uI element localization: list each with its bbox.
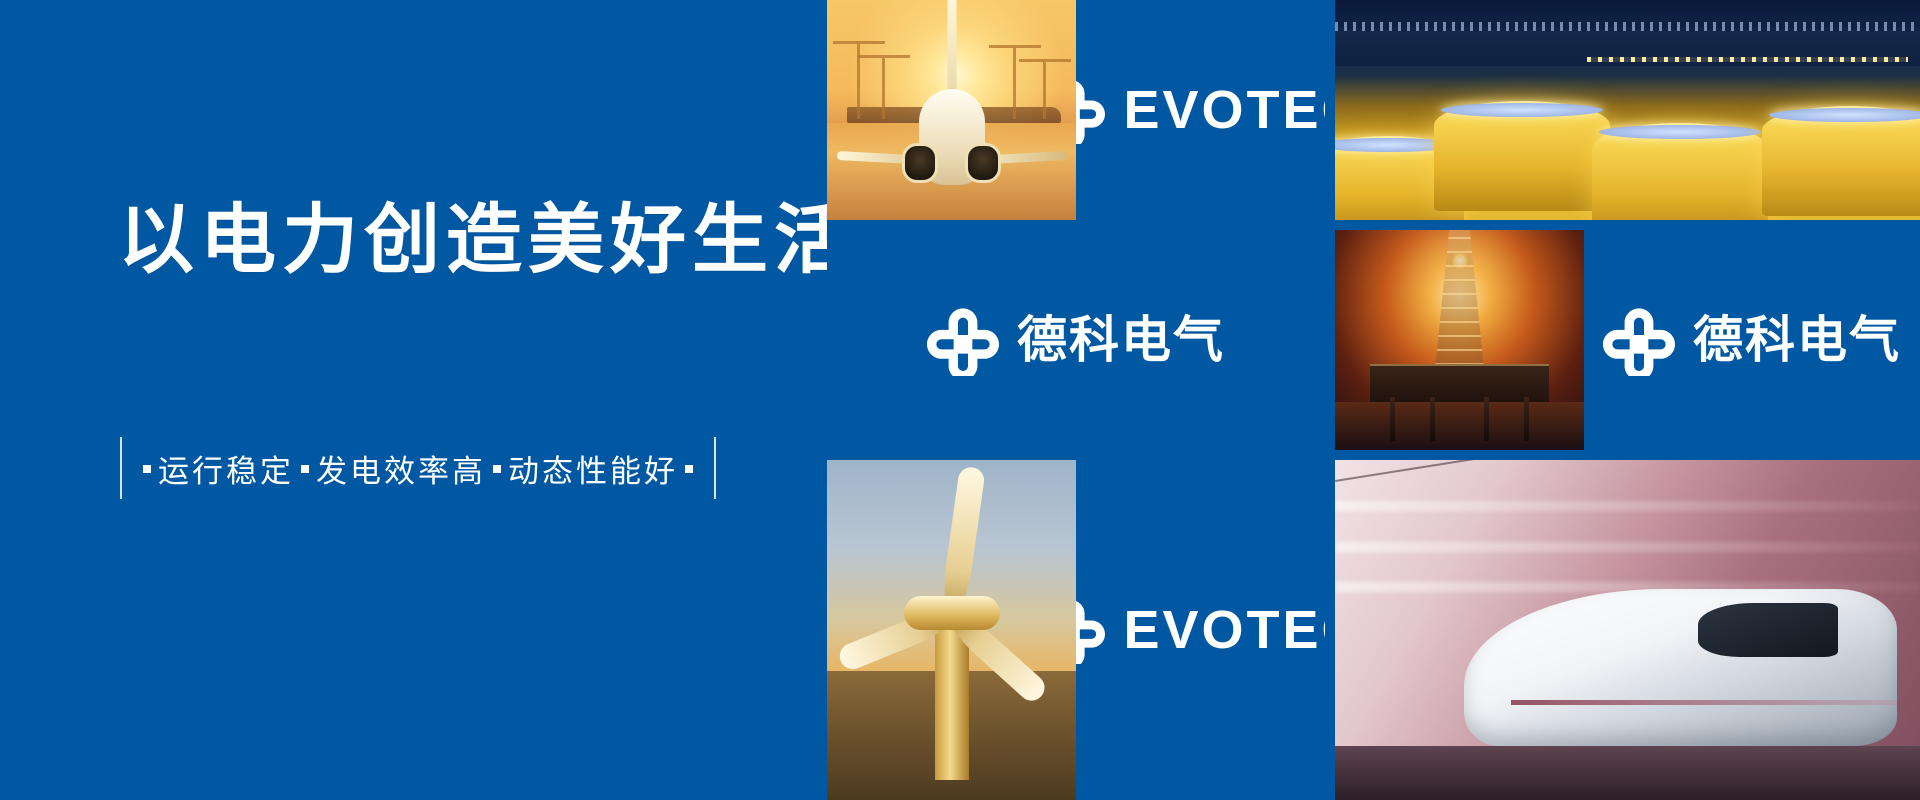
pinwheel-logo-icon (927, 304, 999, 376)
motion-streak (1335, 501, 1920, 511)
train-stripe (1511, 700, 1897, 705)
grid-gutter (1325, 230, 1335, 450)
hero-banner: 以电力创造美好生活 运行稳定 发电效率高 动态性能好 (0, 0, 1920, 800)
rig-leg (1390, 397, 1395, 441)
train-windshield (1698, 603, 1838, 657)
deke-wordmark: 德科电气 (1017, 315, 1225, 365)
port-crane-icon (1043, 59, 1046, 119)
airplane-engine-left (902, 143, 938, 183)
grid-cell-deke-logo-left: 德科电气 (827, 230, 1325, 450)
grid-cell-airplane-photo (827, 0, 1076, 220)
grid-gutter-row (827, 450, 1920, 460)
subtitle-row: 运行稳定 发电效率高 动态性能好 (120, 432, 716, 504)
airplane-at-sunset-port-image (827, 0, 1076, 220)
bullet-dot-icon (301, 465, 309, 473)
motion-streak (1335, 542, 1920, 552)
subtitle-right-rule (714, 437, 716, 499)
high-speed-train-image (1335, 460, 1920, 800)
turbine-nacelle (904, 596, 1000, 630)
night-sea (1335, 402, 1584, 450)
page-title: 以电力创造美好生活 (118, 196, 818, 286)
grid-gutter-row (827, 220, 1920, 230)
deke-logo-lockup: 德科电气 (1603, 304, 1901, 376)
airplane-engine-right (965, 143, 1001, 183)
deke-wordmark: 德科电气 (1693, 315, 1901, 365)
subtitle-text: 运行稳定 发电效率高 动态性能好 (122, 446, 714, 491)
grid-gutter (1325, 0, 1335, 220)
evotec-logo-lockup: EVOTEC (1037, 76, 1363, 144)
storage-tank (1592, 123, 1768, 220)
oil-storage-tanks-at-night-image (1335, 0, 1920, 220)
storage-tank (1434, 101, 1610, 211)
port-crane-icon (882, 55, 885, 119)
bullet-dot-icon (493, 465, 501, 473)
rig-leg (1524, 397, 1529, 441)
lit-pier (1587, 57, 1909, 62)
storage-tank (1762, 106, 1920, 216)
grid-gutter (1325, 460, 1335, 800)
railway-track (1335, 746, 1920, 800)
rig-leg (1430, 397, 1435, 441)
bullet-dot-icon (685, 465, 693, 473)
grid-cell-oil-tanks-photo (1335, 0, 1920, 220)
brand-image-grid: EVOTEC 德科电气 (827, 0, 1920, 800)
wind-turbine-at-sunset-image (827, 460, 1076, 800)
evotec-logo-lockup: EVOTEC (1037, 596, 1363, 664)
subtitle-item-2: 发电效率高 (316, 446, 486, 491)
grid-cell-train-photo (1335, 460, 1920, 800)
city-skyline-lights (1335, 22, 1920, 31)
grid-cell-evotec-logo-top: EVOTEC (1076, 0, 1325, 220)
subtitle-left-rule (120, 437, 122, 499)
catenary-wire (1335, 460, 1740, 482)
turbine-tower (935, 630, 969, 780)
grid-cell-evotec-logo-bottom: EVOTEC (1076, 460, 1325, 800)
grid-cell-turbine-photo (827, 460, 1076, 800)
grid-cell-deke-logo-right: 德科电气 (1584, 230, 1920, 450)
rig-leg (1484, 397, 1489, 441)
port-crane-icon (857, 41, 860, 119)
headline-block: 以电力创造美好生活 运行稳定 发电效率高 动态性能好 (118, 196, 818, 536)
deke-logo-lockup: 德科电气 (927, 304, 1225, 376)
rig-deck (1370, 364, 1549, 402)
pinwheel-logo-icon (1603, 304, 1675, 376)
port-crane-icon (1013, 45, 1016, 119)
grid-cell-oil-rig-photo (1335, 230, 1584, 450)
subtitle-item-1: 运行稳定 (158, 446, 294, 491)
subtitle-item-3: 动态性能好 (508, 446, 678, 491)
bullet-dot-icon (143, 465, 151, 473)
offshore-oil-rig-at-dusk-image (1335, 230, 1584, 450)
